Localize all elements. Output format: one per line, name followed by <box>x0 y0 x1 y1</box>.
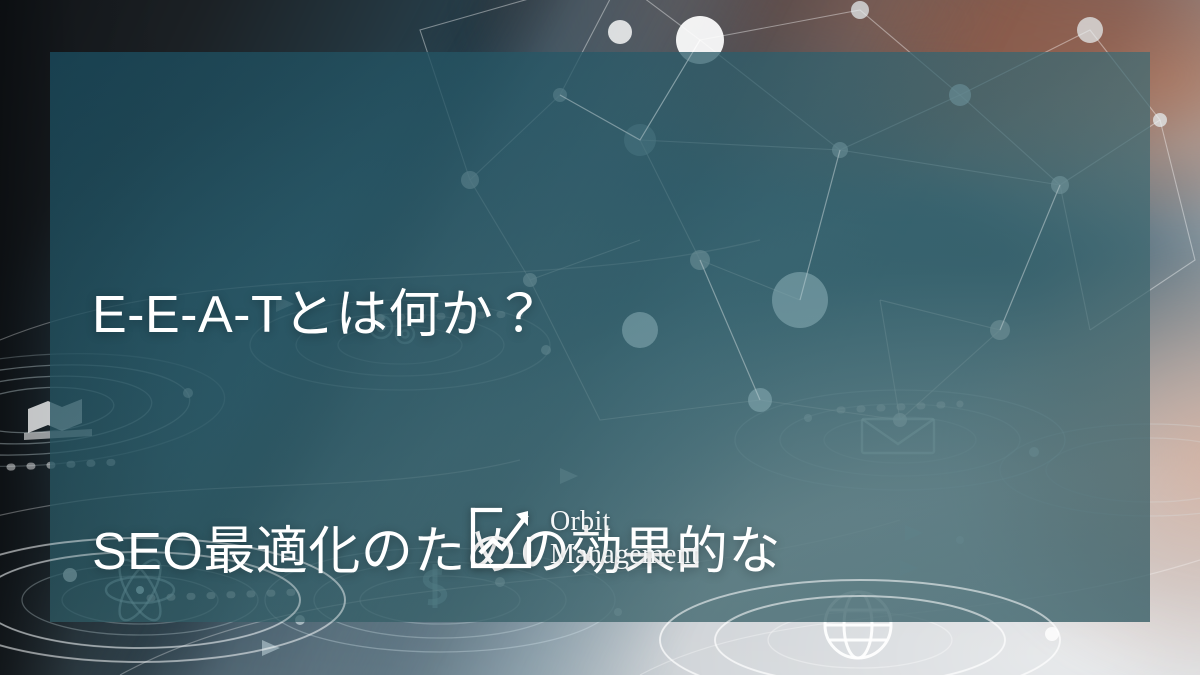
brand-name-line-1: Orbit <box>550 505 699 538</box>
page-title: E-E-A-Tとは何か？ SEO最適化のための効果的な 対策方法 <box>92 118 1052 675</box>
brand-logo: Orbit Management <box>470 505 699 571</box>
brand-logo-text: Orbit Management <box>550 505 699 571</box>
headline-line-1: E-E-A-Tとは何か？ <box>92 276 1052 355</box>
hero-banner: E-E-A-Tとは何か？ SEO最適化のための効果的な 対策方法 Orbit M… <box>0 0 1200 675</box>
growth-chart-arrow-icon <box>470 507 532 569</box>
brand-name-line-2: Management <box>550 538 699 571</box>
